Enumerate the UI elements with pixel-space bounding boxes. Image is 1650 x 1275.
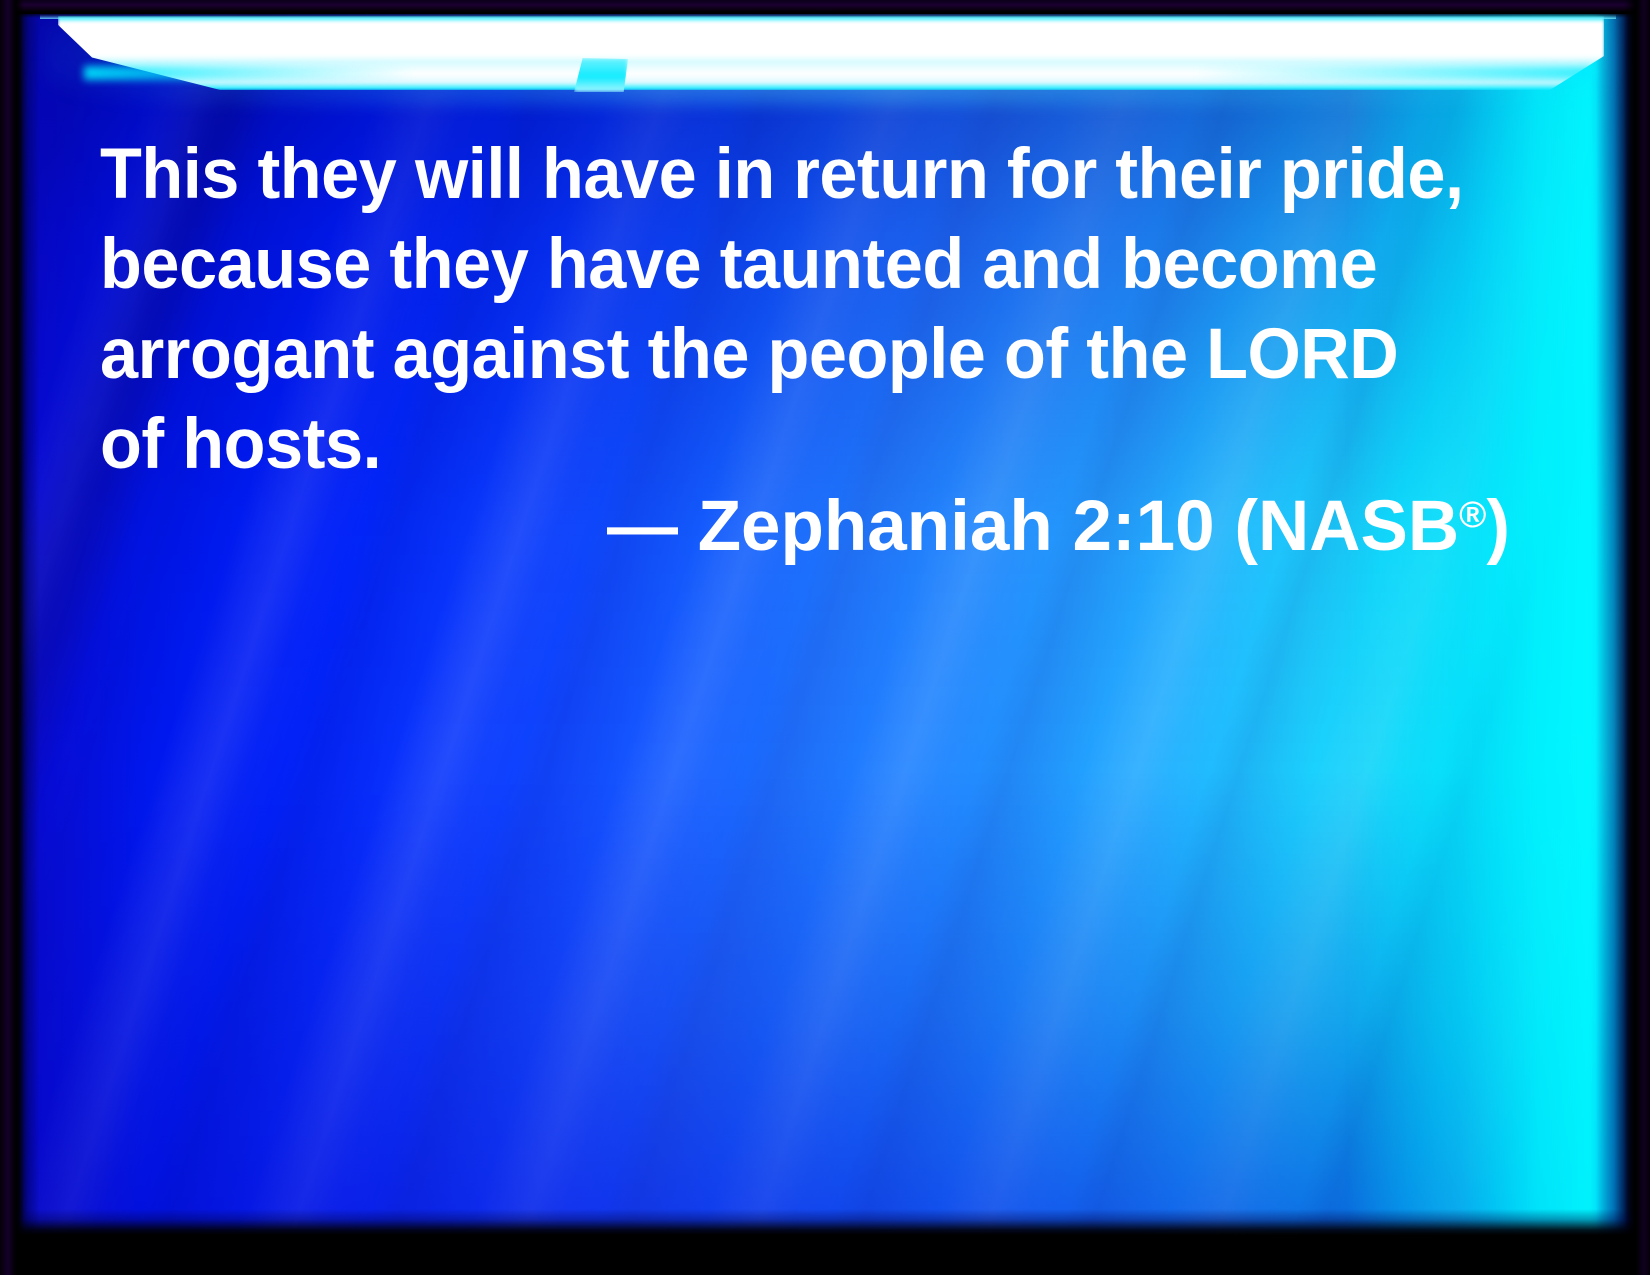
top-glow-edge-line [40, 14, 1616, 19]
top-glow-wisp-right [1194, 66, 1594, 80]
attribution-dash: — [607, 487, 678, 566]
attribution-spacer-2 [1053, 487, 1073, 566]
attribution-book: Zephaniah [698, 487, 1053, 566]
verse-slide: This they will have in return for their … [0, 0, 1650, 1275]
verse-line-1: This they will have in return for their … [100, 130, 1490, 220]
slide-canvas: This they will have in return for their … [14, 14, 1636, 1235]
registered-trademark-icon: ® [1459, 494, 1486, 535]
background-right-vignette [1596, 14, 1636, 1235]
verse-attribution: — Zephaniah 2:10 (NASB®) [100, 470, 1510, 572]
background-bottom-vignette [14, 1209, 1636, 1235]
verse-text-block: This they will have in return for their … [100, 130, 1540, 490]
top-glow-band-notch [574, 58, 628, 92]
verse-line-3: arrogant against the people of the LORD [100, 310, 1490, 400]
verse-line-2: because they have taunted and become [100, 220, 1490, 310]
attribution-spacer-3 [1215, 487, 1235, 566]
background-left-vignette [14, 14, 40, 1235]
attribution-reference: 2:10 [1072, 487, 1214, 566]
attribution-translation-open: (NASB [1234, 487, 1459, 566]
attribution-translation-close: ) [1486, 487, 1510, 566]
attribution-spacer-1 [678, 487, 698, 566]
top-glow-wisp-left [84, 66, 414, 80]
